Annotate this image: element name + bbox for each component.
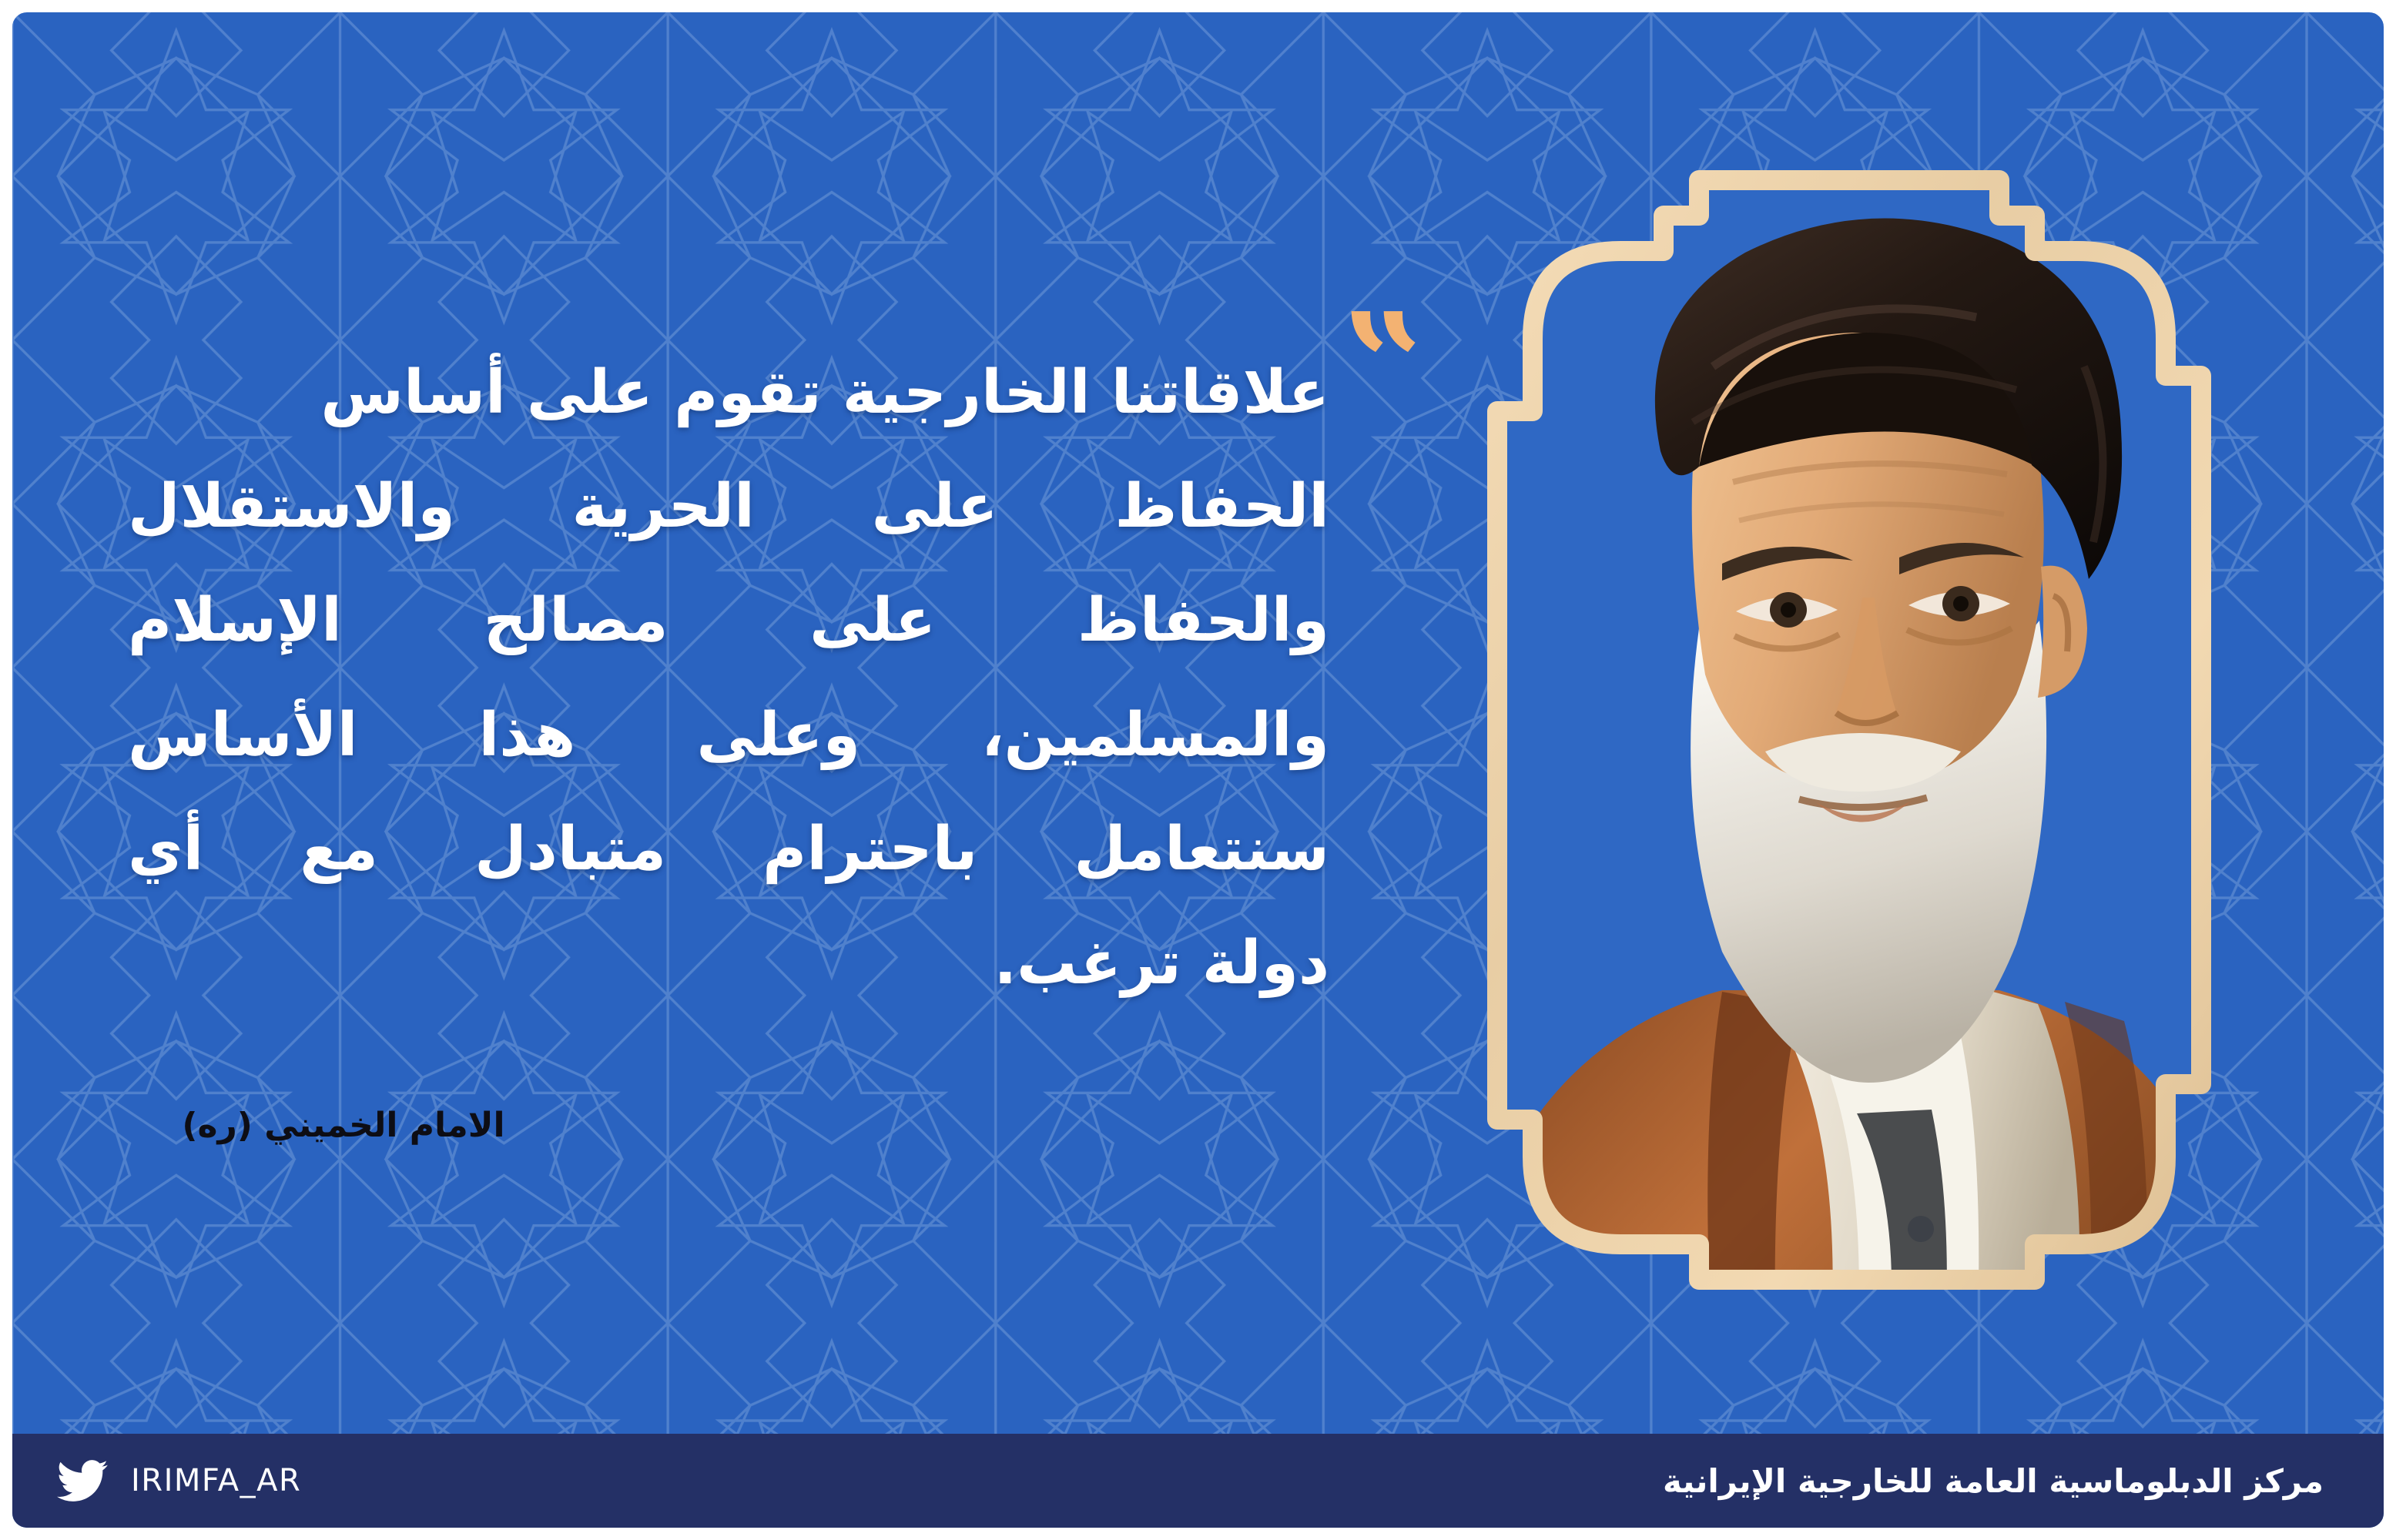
quote-line: علاقاتنا الخارجية تقوم على أساس: [128, 336, 1329, 450]
footer-bar: IRIMFA_AR مركز الدبلوماسية العامة للخارج…: [12, 1434, 2384, 1528]
card-body: ” علاقاتنا الخارجية تقوم على أساس الحفاظ…: [12, 12, 2384, 1434]
organization-name: مركز الدبلوماسية العامة للخارجية الإيران…: [1663, 1462, 2324, 1500]
quote-line: والمسلمين، وعلى هذا الأساس: [128, 678, 1329, 792]
quote-block: ” علاقاتنا الخارجية تقوم على أساس الحفاظ…: [128, 336, 1329, 1020]
footer-social[interactable]: IRIMFA_AR: [57, 1455, 301, 1506]
quote-text: علاقاتنا الخارجية تقوم على أساس الحفاظ ع…: [128, 336, 1329, 1020]
portrait-image: [1468, 136, 2230, 1360]
quote-line: دولة ترغب.: [128, 906, 1329, 1020]
card-inner: ” علاقاتنا الخارجية تقوم على أساس الحفاظ…: [7, 7, 2389, 1533]
quote-line: الحفاظ على الحرية والاستقلال: [128, 450, 1329, 564]
quote-attribution: الامام الخميني (ره): [128, 1106, 559, 1145]
twitter-handle[interactable]: IRIMFA_AR: [131, 1463, 301, 1498]
quotation-mark-icon: ”: [1348, 310, 1422, 420]
quote-line: والحفاظ على مصالح الإسلام: [128, 564, 1329, 678]
twitter-bird-icon[interactable]: [57, 1455, 108, 1506]
quote-card: ” علاقاتنا الخارجية تقوم على أساس الحفاظ…: [0, 0, 2396, 1540]
quote-line: سنتعامل باحترام متبادل مع أي: [128, 792, 1329, 906]
portrait-frame: [1468, 136, 2230, 1360]
